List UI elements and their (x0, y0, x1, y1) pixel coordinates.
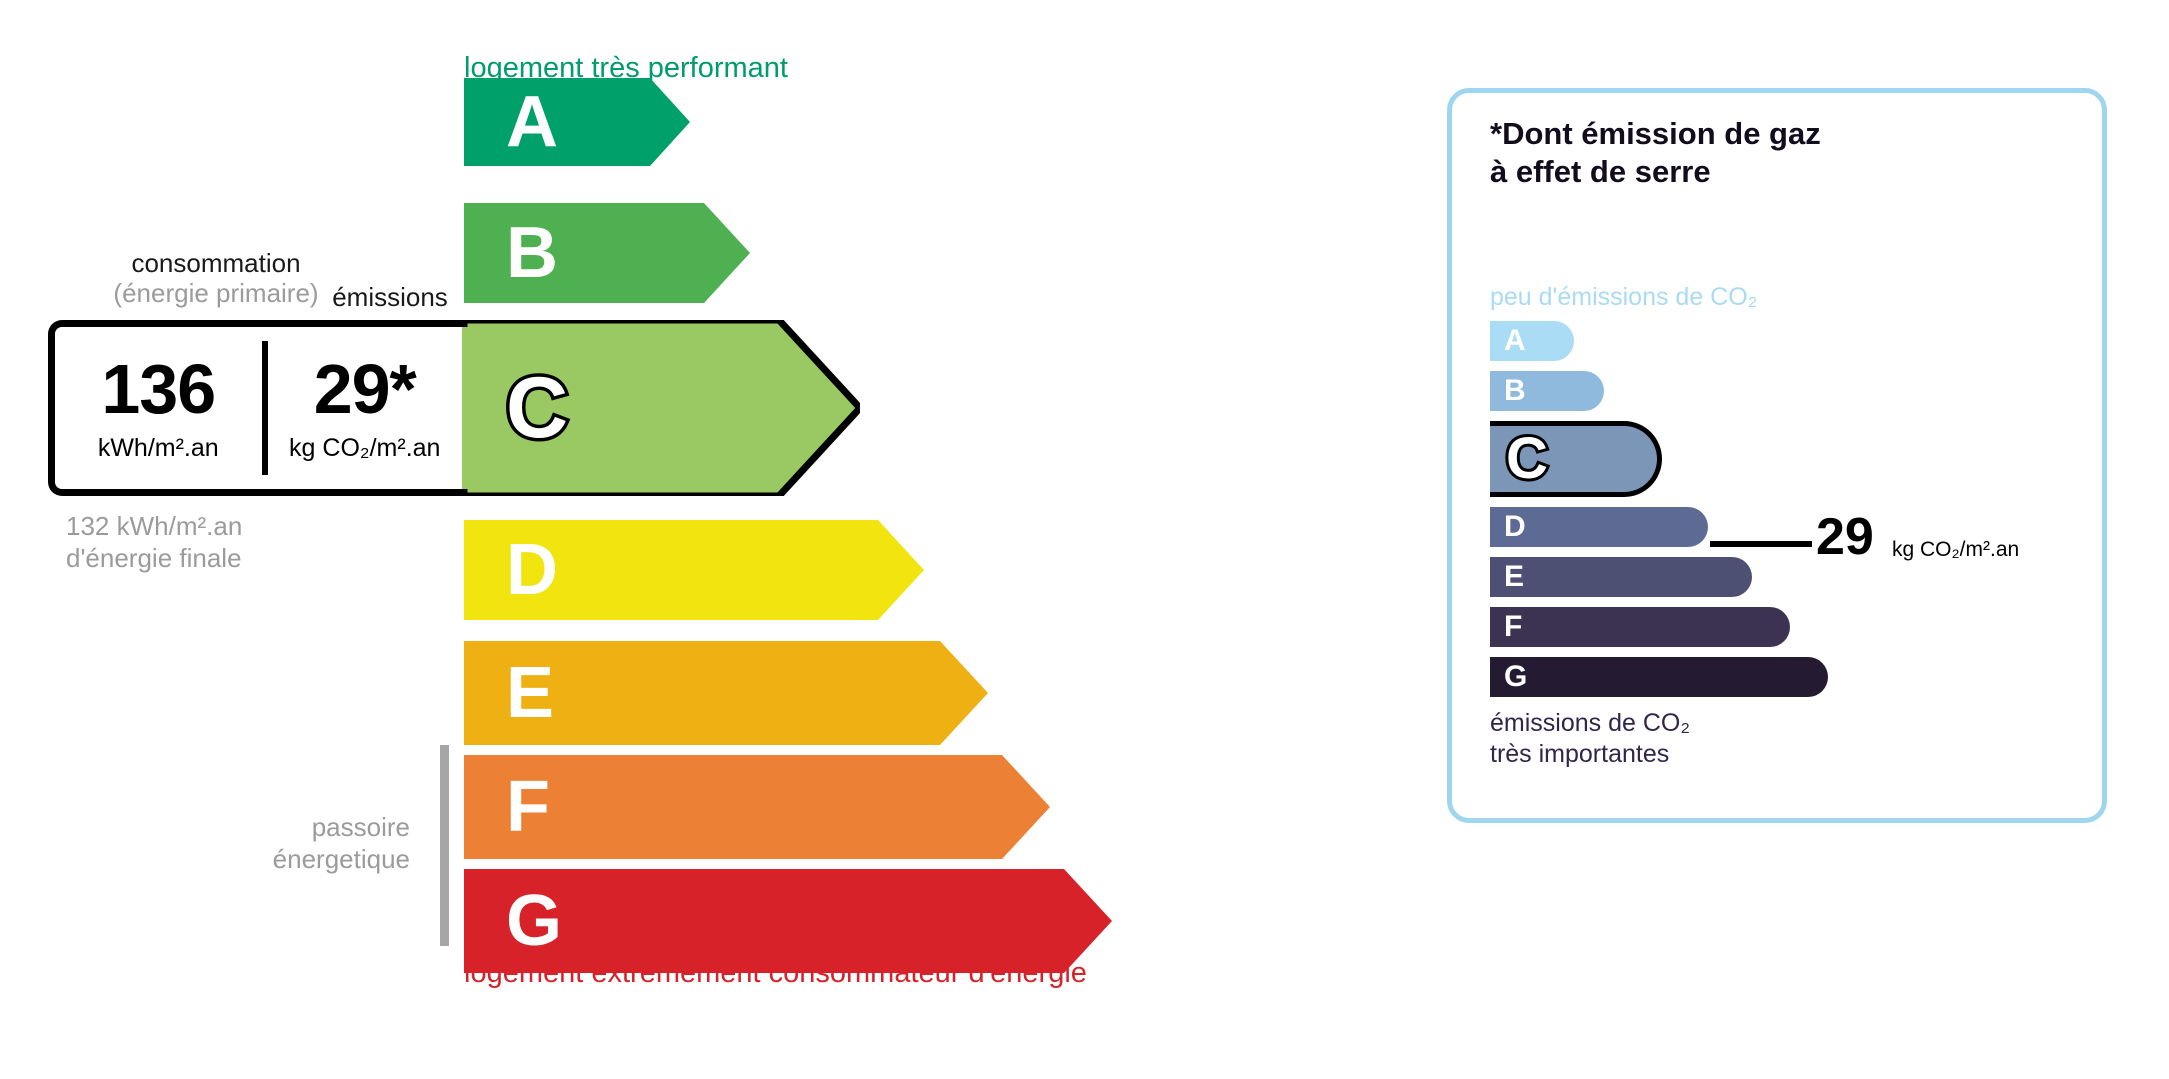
energy-grade-row-b: B (464, 203, 750, 303)
ges-emissions-unit: kg CO₂/m².an (289, 434, 440, 463)
passoire-energetique-label: passoire énergetique (180, 812, 410, 875)
ges-top-label: peu d'émissions de CO₂ (1490, 283, 1757, 312)
ges-panel: *Dont émission de gaz à effet de serre p… (1447, 88, 2107, 823)
ges-emissions-cell: 29* kg CO₂/m².an (262, 327, 469, 489)
ges-bottom-line1: émissions de CO₂ (1490, 708, 1690, 739)
ges-grade-letter-g: G (1504, 662, 1527, 692)
ges-grade-bar: A (1490, 321, 1574, 361)
emissions-header: émissions (300, 282, 480, 313)
bottom-performance-label: logement extrêmement consommateur d'éner… (464, 957, 1087, 990)
primary-energy-value: 136 (101, 354, 215, 424)
ges-grade-row-a: A (1490, 321, 1574, 361)
ges-grade-row-g: G (1490, 657, 1828, 697)
passoire-line1: passoire (180, 812, 410, 844)
ges-panel-title: *Dont émission de gaz à effet de serre (1490, 115, 1821, 191)
ges-grade-bar: E (1490, 557, 1752, 597)
ges-grade-row-f: F (1490, 607, 1790, 647)
passoire-line2: énergetique (180, 844, 410, 876)
energy-grade-row-c: C (464, 320, 860, 496)
ges-grade-letter-d: D (1504, 512, 1526, 542)
grade-arrow-shape (464, 203, 750, 303)
ges-grade-row-e: E (1490, 557, 1752, 597)
ges-bottom-label: émissions de CO₂ très importantes (1490, 708, 1690, 769)
ges-grade-letter-c: C (1506, 430, 1548, 488)
ges-grade-bar: G (1490, 657, 1828, 697)
primary-energy-cell: 136 kWh/m².an (55, 327, 262, 489)
energy-grade-row-d: D (464, 520, 924, 620)
ges-bottom-line2: très importantes (1490, 739, 1690, 770)
final-energy-value: 132 kWh/m².an (66, 510, 242, 542)
ges-grade-bar: C (1490, 421, 1662, 497)
current-grade-join (462, 327, 468, 489)
ges-grade-letter-e: E (1504, 562, 1524, 592)
final-energy-note: 132 kWh/m².an d'énergie finale (66, 510, 242, 574)
value-box: 136 kWh/m².an 29* kg CO₂/m².an (48, 320, 468, 496)
ges-grade-row-d: D (1490, 507, 1708, 547)
ges-callout-line (1710, 541, 1812, 547)
grade-arrow-shape (464, 641, 988, 745)
dpe-energy-panel: logement très performant consommation (é… (0, 0, 1380, 1079)
ges-grade-bar: B (1490, 371, 1604, 411)
ges-title-line1: *Dont émission de gaz (1490, 115, 1821, 153)
ges-callout-unit: kg CO₂/m².an (1892, 538, 2019, 562)
final-energy-caption: d'énergie finale (66, 542, 242, 574)
energy-grade-row-f: F (464, 755, 1050, 859)
ges-grade-row-c: C (1490, 421, 1662, 497)
energy-grade-row-e: E (464, 641, 988, 745)
energy-grade-row-a: A (464, 78, 690, 166)
passoire-range-bar (440, 745, 449, 946)
grade-arrow-shape (464, 320, 860, 496)
ges-title-line2: à effet de serre (1490, 153, 1821, 191)
grade-arrow-shape (464, 755, 1050, 859)
consumption-header-main: consommation (131, 248, 300, 278)
ges-grade-letter-f: F (1504, 612, 1522, 642)
ges-grade-row-b: B (1490, 371, 1604, 411)
ges-callout-value: 29 (1816, 511, 1874, 563)
ges-grade-letter-b: B (1504, 376, 1526, 406)
primary-energy-unit: kWh/m².an (98, 434, 219, 463)
grade-arrow-shape (464, 520, 924, 620)
ges-emissions-value: 29* (314, 354, 416, 424)
grade-arrow-shape (464, 78, 690, 166)
ges-grade-letter-a: A (1504, 326, 1526, 356)
ges-grade-bar: D (1490, 507, 1708, 547)
ges-grade-bar: F (1490, 607, 1790, 647)
